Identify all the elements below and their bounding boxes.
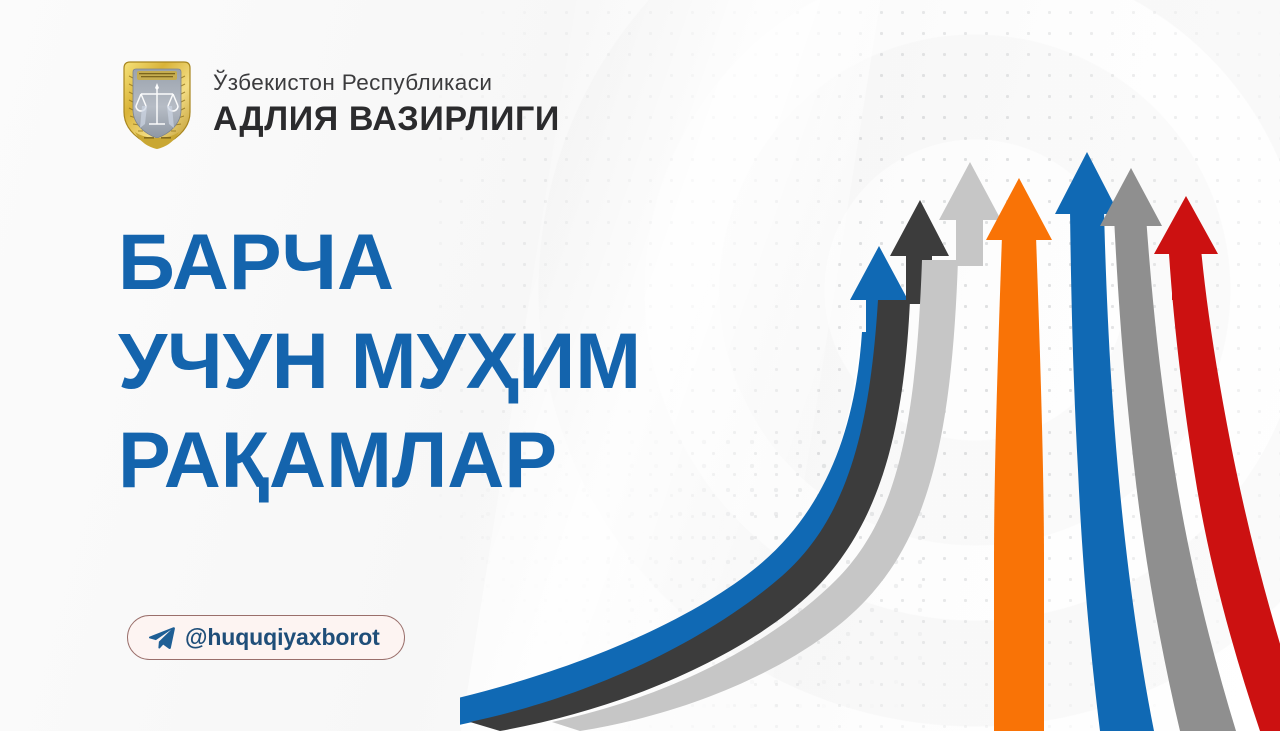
poster-canvas: Ўзбекистон Республикаси АДЛИЯ ВАЗИРЛИГИ … <box>0 0 1280 731</box>
arrow-orange <box>986 178 1052 731</box>
headline-line-3: РАҚАМЛАР <box>118 420 641 499</box>
page-title: БАРЧА УЧУН МУҲИМ РАҚАМЛАР <box>118 222 641 499</box>
headline-line-2: УЧУН МУҲИМ <box>118 321 641 400</box>
brand-header: Ўзбекистон Республикаси АДЛИЯ ВАЗИРЛИГИ <box>118 58 560 150</box>
telegram-handle-badge[interactable]: @huquqiyaxborot <box>127 615 405 660</box>
brand-country-line: Ўзбекистон Республикаси <box>213 72 560 95</box>
uzbekistan-justice-ministry-emblem-icon <box>118 58 196 150</box>
telegram-paper-plane-icon <box>148 626 175 650</box>
headline-line-1: БАРЧА <box>118 222 641 301</box>
brand-text-block: Ўзбекистон Республикаси АДЛИЯ ВАЗИРЛИГИ <box>213 72 560 136</box>
telegram-handle-text: @huquqiyaxborot <box>185 624 380 651</box>
brand-ministry-line: АДЛИЯ ВАЗИРЛИГИ <box>213 102 560 136</box>
